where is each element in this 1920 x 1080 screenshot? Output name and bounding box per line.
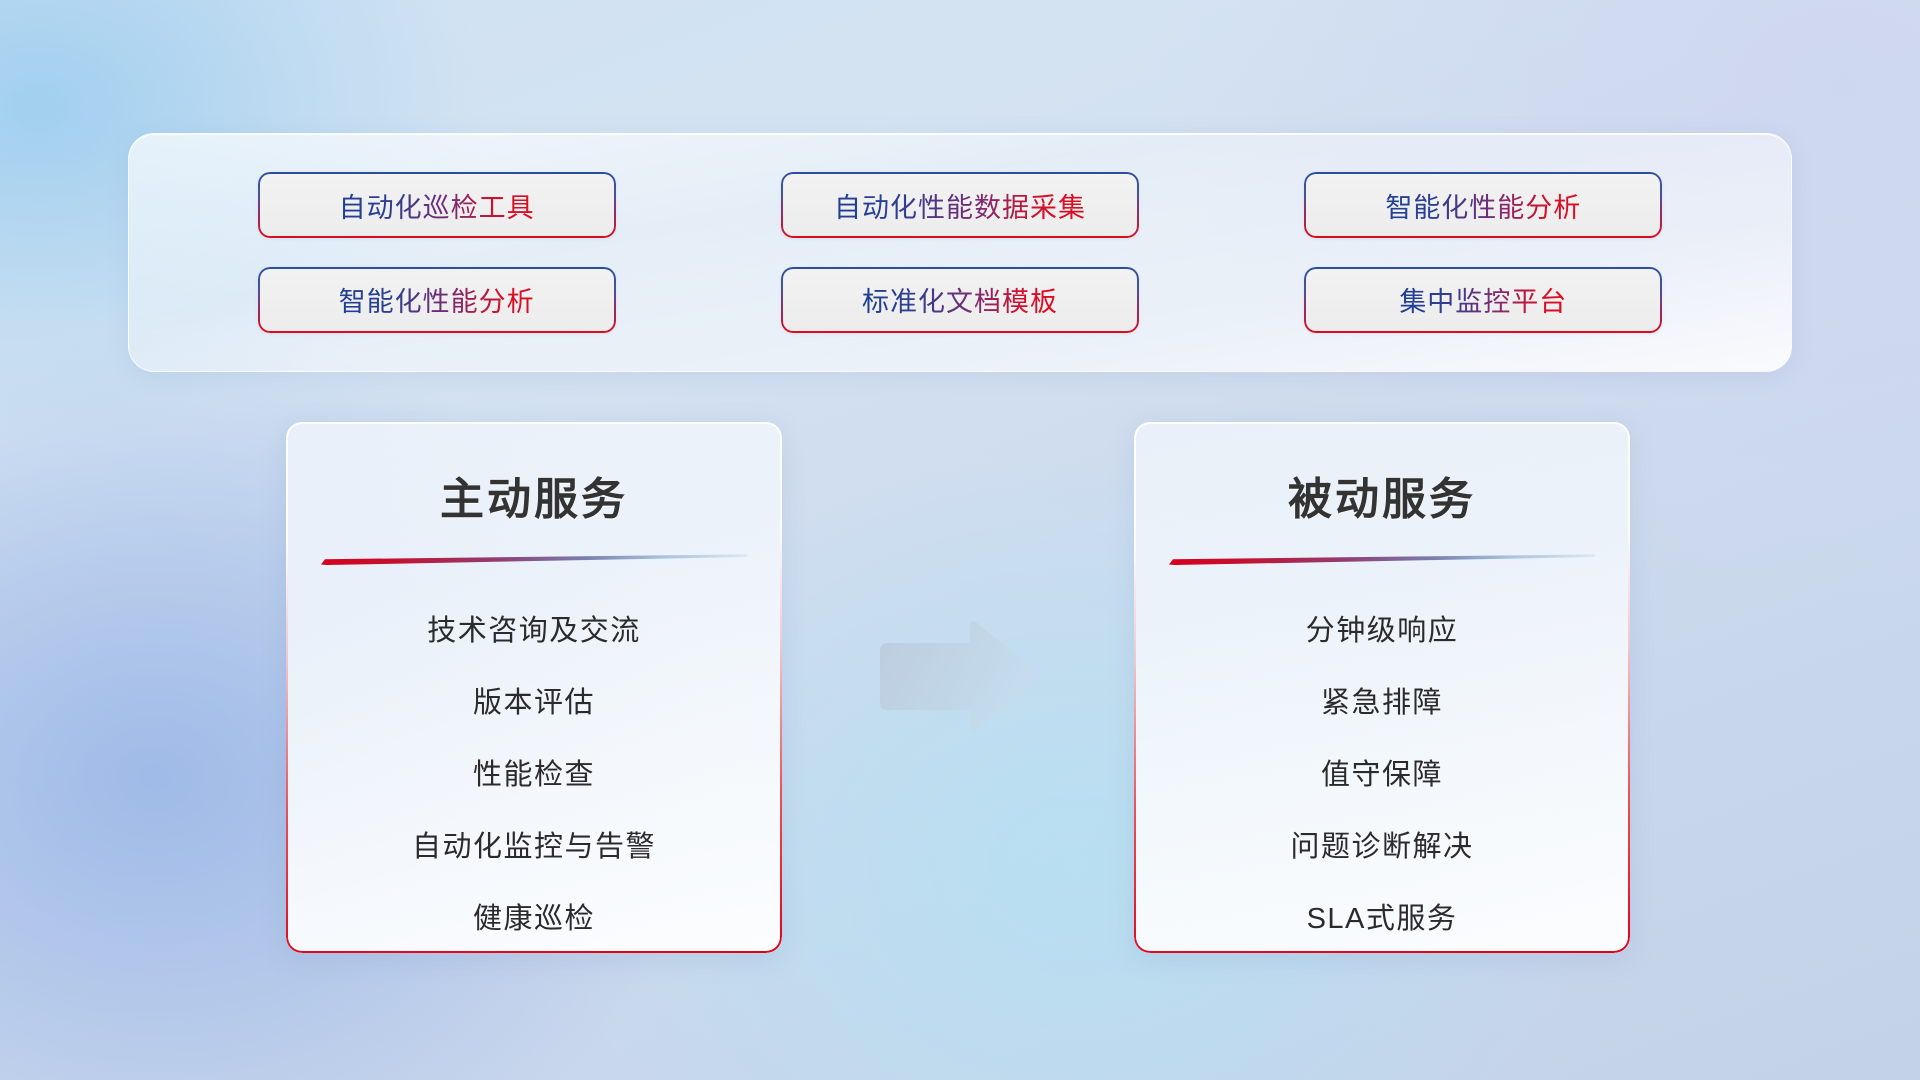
- capability-pill-label: 自动化巡检工具: [339, 186, 535, 225]
- capability-pill-label: 智能化性能分析: [339, 280, 535, 319]
- capability-pill[interactable]: 自动化巡检工具: [258, 172, 616, 238]
- service-item-list: 技术咨询及交流 版本评估 性能检查 自动化监控与告警 健康巡检: [286, 595, 782, 953]
- capability-pill[interactable]: 智能化性能分析: [1304, 172, 1662, 238]
- capability-panel: 自动化巡检工具 自动化性能数据采集 智能化性能分析 智能化性能分析 标准化文档模…: [128, 133, 1792, 372]
- capability-pill-label: 标准化文档模板: [862, 280, 1058, 319]
- card-title: 主动服务: [286, 463, 782, 527]
- card-title: 被动服务: [1134, 463, 1630, 527]
- capability-pill[interactable]: 智能化性能分析: [258, 267, 616, 333]
- slide-canvas: 自动化巡检工具 自动化性能数据采集 智能化性能分析 智能化性能分析 标准化文档模…: [0, 0, 1920, 1080]
- capability-pill[interactable]: 标准化文档模板: [781, 267, 1139, 333]
- service-item: 自动化监控与告警: [286, 811, 782, 883]
- service-item: 问题诊断解决: [1134, 811, 1630, 883]
- capability-pill[interactable]: 自动化性能数据采集: [781, 172, 1139, 238]
- service-card-reactive: 被动服务 分钟级响应 紧急排障 值守保障: [1134, 422, 1630, 953]
- capability-pill-label: 智能化性能分析: [1385, 186, 1581, 225]
- service-item: 版本评估: [286, 667, 782, 739]
- flow-arrow-right-icon: [874, 617, 1040, 737]
- card-divider: [1169, 554, 1595, 565]
- service-card-proactive: 主动服务 技术咨询及交流 版本评估 性能检查: [286, 422, 782, 953]
- service-item: SLA式服务: [1134, 883, 1630, 953]
- service-item: 紧急排障: [1134, 667, 1630, 739]
- service-item: 技术咨询及交流: [286, 595, 782, 667]
- capability-pill-label: 自动化性能数据采集: [834, 186, 1086, 225]
- service-item: 性能检查: [286, 739, 782, 811]
- capability-pill[interactable]: 集中监控平台: [1304, 267, 1662, 333]
- service-item-list: 分钟级响应 紧急排障 值守保障 问题诊断解决 SLA式服务: [1134, 595, 1630, 953]
- card-divider: [321, 554, 747, 565]
- service-item: 值守保障: [1134, 739, 1630, 811]
- service-item: 健康巡检: [286, 883, 782, 953]
- service-item: 分钟级响应: [1134, 595, 1630, 667]
- capability-pill-label: 集中监控平台: [1399, 280, 1567, 319]
